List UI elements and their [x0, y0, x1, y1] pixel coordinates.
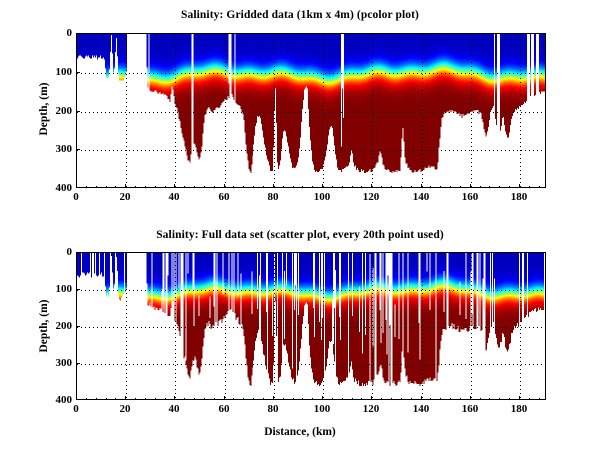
x-minor-tick [214, 186, 215, 188]
x-minor-tick [224, 186, 225, 188]
x-tick-label: 80 [268, 191, 279, 203]
x-minor-tick [155, 186, 156, 188]
x-tick-label: 160 [462, 191, 479, 203]
x-tick-label: 180 [511, 403, 528, 415]
x-minor-tick [460, 186, 461, 188]
panel-scatter: Salinity: Full data set (scatter plot, e… [0, 220, 600, 451]
x-minor-tick [106, 186, 107, 188]
x-minor-tick [450, 398, 451, 400]
x-minor-tick [243, 186, 244, 188]
x-minor-tick [519, 398, 520, 400]
x-minor-tick [233, 186, 234, 188]
x-minor-tick [480, 186, 481, 188]
x-minor-tick [450, 186, 451, 188]
x-minor-tick [371, 186, 372, 188]
x-tick-label: 40 [169, 403, 180, 415]
x-minor-tick [233, 398, 234, 400]
x-minor-tick [361, 398, 362, 400]
x-minor-tick [194, 186, 195, 188]
x-minor-tick [204, 186, 205, 188]
x-minor-tick [529, 186, 530, 188]
x-minor-tick [204, 398, 205, 400]
y-tick [76, 149, 80, 150]
x-minor-tick [342, 398, 343, 400]
x-minor-tick [352, 398, 353, 400]
x-minor-tick [145, 398, 146, 400]
x-minor-tick [499, 398, 500, 400]
x-tick-label: 0 [73, 191, 79, 203]
x-minor-tick [115, 186, 116, 188]
x-tick-label: 60 [219, 191, 230, 203]
y-tick [76, 326, 80, 327]
x-tick-label: 140 [413, 191, 430, 203]
x-tick-label: 80 [268, 403, 279, 415]
panel-gridded: Salinity: Gridded data (1km x 4m) (pcolo… [0, 0, 600, 220]
x-minor-tick [519, 186, 520, 188]
x-minor-tick [421, 186, 422, 188]
x-minor-tick [243, 398, 244, 400]
x-minor-tick [253, 398, 254, 400]
x-minor-tick [135, 186, 136, 188]
y-tick [76, 399, 80, 400]
x-minor-tick [411, 186, 412, 188]
x-minor-tick [440, 398, 441, 400]
x-minor-tick [96, 186, 97, 188]
x-minor-tick [440, 186, 441, 188]
x-tick-label: 100 [314, 191, 331, 203]
x-minor-tick [86, 398, 87, 400]
x-minor-tick [381, 186, 382, 188]
y-tick-label: 0 [36, 27, 72, 39]
x-tick-label: 120 [363, 191, 380, 203]
x-minor-tick [430, 398, 431, 400]
x-minor-tick [322, 186, 323, 188]
panel-scatter-title: Salinity: Full data set (scatter plot, e… [0, 229, 600, 241]
x-minor-tick [293, 398, 294, 400]
x-minor-tick [302, 398, 303, 400]
x-minor-tick [361, 186, 362, 188]
axes-scatter [76, 252, 546, 400]
x-minor-tick [253, 186, 254, 188]
x-minor-tick [470, 398, 471, 400]
x-minor-tick [273, 186, 274, 188]
x-minor-tick [184, 186, 185, 188]
x-minor-tick [165, 186, 166, 188]
x-minor-tick [106, 398, 107, 400]
x-minor-tick [480, 398, 481, 400]
x-minor-tick [509, 186, 510, 188]
x-minor-tick [460, 398, 461, 400]
y-tick-label: 400 [36, 394, 72, 406]
x-minor-tick [470, 186, 471, 188]
ylabel-scatter: Depth, (m) [38, 276, 50, 376]
x-minor-tick [302, 186, 303, 188]
y-tick [76, 33, 80, 34]
x-minor-tick [371, 398, 372, 400]
y-tick [76, 252, 80, 253]
x-minor-tick [391, 398, 392, 400]
x-minor-tick [322, 398, 323, 400]
x-minor-tick [342, 186, 343, 188]
y-tick-label: 400 [36, 182, 72, 194]
x-minor-tick [312, 398, 313, 400]
x-minor-tick [401, 186, 402, 188]
x-minor-tick [273, 398, 274, 400]
x-minor-tick [125, 398, 126, 400]
ylabel-gridded: Depth, (m) [38, 59, 50, 159]
x-minor-tick [401, 398, 402, 400]
x-minor-tick [539, 398, 540, 400]
salinity-section-figure: Salinity: Gridded data (1km x 4m) (pcolo… [0, 0, 600, 451]
x-minor-tick [86, 186, 87, 188]
x-minor-tick [194, 398, 195, 400]
x-tick-label: 160 [462, 403, 479, 415]
y-tick [76, 363, 80, 364]
x-minor-tick [184, 398, 185, 400]
x-minor-tick [499, 186, 500, 188]
x-minor-tick [283, 186, 284, 188]
x-minor-tick [529, 398, 530, 400]
x-minor-tick [381, 398, 382, 400]
x-tick-label: 120 [363, 403, 380, 415]
y-tick [76, 289, 80, 290]
x-minor-tick [283, 398, 284, 400]
x-minor-tick [174, 398, 175, 400]
panel-gridded-title: Salinity: Gridded data (1km x 4m) (pcolo… [0, 9, 600, 21]
x-minor-tick [489, 398, 490, 400]
x-minor-tick [539, 186, 540, 188]
x-tick-label: 60 [219, 403, 230, 415]
x-minor-tick [352, 186, 353, 188]
x-minor-tick [421, 398, 422, 400]
y-tick [76, 187, 80, 188]
x-minor-tick [115, 398, 116, 400]
x-tick-label: 100 [314, 403, 331, 415]
x-tick-label: 20 [120, 191, 131, 203]
x-tick-label: 140 [413, 403, 430, 415]
x-tick-label: 20 [120, 403, 131, 415]
x-minor-tick [263, 186, 264, 188]
x-minor-tick [125, 186, 126, 188]
x-minor-tick [224, 398, 225, 400]
x-minor-tick [293, 186, 294, 188]
y-tick-label: 0 [36, 246, 72, 258]
x-minor-tick [312, 186, 313, 188]
x-minor-tick [332, 398, 333, 400]
x-minor-tick [214, 398, 215, 400]
scatter-points-image [77, 253, 545, 399]
x-minor-tick [174, 186, 175, 188]
y-tick [76, 72, 80, 73]
x-minor-tick [509, 398, 510, 400]
x-tick-label: 180 [511, 191, 528, 203]
x-minor-tick [411, 398, 412, 400]
x-minor-tick [489, 186, 490, 188]
x-minor-tick [263, 398, 264, 400]
x-minor-tick [96, 398, 97, 400]
x-minor-tick [155, 398, 156, 400]
x-minor-tick [430, 186, 431, 188]
x-minor-tick [332, 186, 333, 188]
x-tick-label: 40 [169, 191, 180, 203]
xlabel-distance: Distance, (km) [0, 426, 600, 438]
x-minor-tick [165, 398, 166, 400]
x-minor-tick [145, 186, 146, 188]
x-minor-tick [391, 186, 392, 188]
gridded-pcolor-image [77, 34, 545, 187]
axes-gridded [76, 33, 546, 188]
x-minor-tick [135, 398, 136, 400]
y-tick [76, 111, 80, 112]
x-tick-label: 0 [73, 403, 79, 415]
